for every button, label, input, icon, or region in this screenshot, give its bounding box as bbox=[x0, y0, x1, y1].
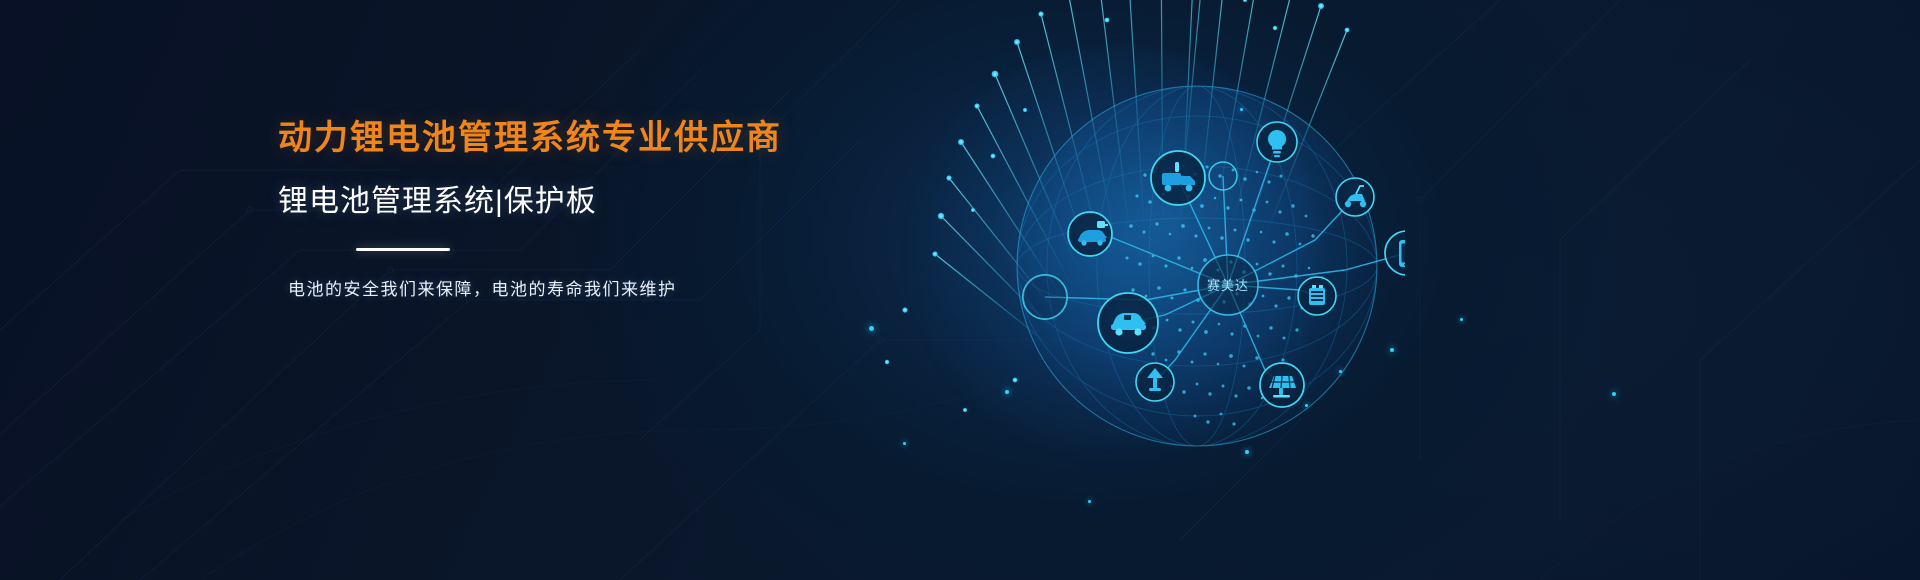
subtitle: 锂电池管理系统|保护板 bbox=[278, 184, 838, 220]
particle bbox=[1460, 318, 1463, 321]
particle bbox=[1240, 108, 1243, 111]
battery-pack-icon bbox=[1309, 285, 1325, 305]
hero-banner: 动力锂电池管理系统专业供应商 锂电池管理系统|保护板 电池的安全我们来保障，电池… bbox=[0, 0, 1920, 580]
particle bbox=[903, 442, 906, 445]
node-scooter[interactable] bbox=[1336, 178, 1374, 216]
particle bbox=[869, 326, 874, 331]
tagline: 电池的安全我们来保障，电池的寿命我们来维护 bbox=[288, 275, 838, 300]
hub-center-icon[interactable]: 赛美达 bbox=[1198, 255, 1258, 315]
node-phone[interactable] bbox=[1385, 231, 1405, 275]
particle bbox=[1612, 392, 1616, 396]
copy-block: 动力锂电池管理系统专业供应商 锂电池管理系统|保护板 电池的安全我们来保障，电池… bbox=[278, 118, 838, 300]
particle bbox=[1245, 450, 1249, 454]
page-title: 动力锂电池管理系统专业供应商 bbox=[278, 118, 838, 158]
smartphone-icon bbox=[1399, 240, 1405, 267]
node-truck[interactable] bbox=[1151, 151, 1205, 205]
node-battery[interactable] bbox=[1298, 277, 1336, 315]
node-ev-car[interactable] bbox=[1068, 212, 1112, 256]
particle bbox=[1305, 404, 1308, 407]
node-bulb[interactable] bbox=[1257, 122, 1297, 162]
globe-network: 赛美达 bbox=[845, 0, 1405, 530]
node-empty-1[interactable] bbox=[1023, 275, 1067, 319]
brand-label: 赛美达 bbox=[1207, 278, 1249, 293]
divider bbox=[356, 248, 450, 251]
node-car[interactable] bbox=[1098, 293, 1158, 353]
particle bbox=[1339, 370, 1342, 373]
node-solar[interactable] bbox=[1260, 363, 1304, 407]
particle bbox=[1005, 390, 1009, 394]
particle bbox=[1390, 348, 1394, 352]
particle bbox=[1088, 500, 1091, 503]
network-globe-graphic: 赛美达 bbox=[845, 0, 1405, 530]
node-lamp[interactable] bbox=[1136, 363, 1174, 401]
